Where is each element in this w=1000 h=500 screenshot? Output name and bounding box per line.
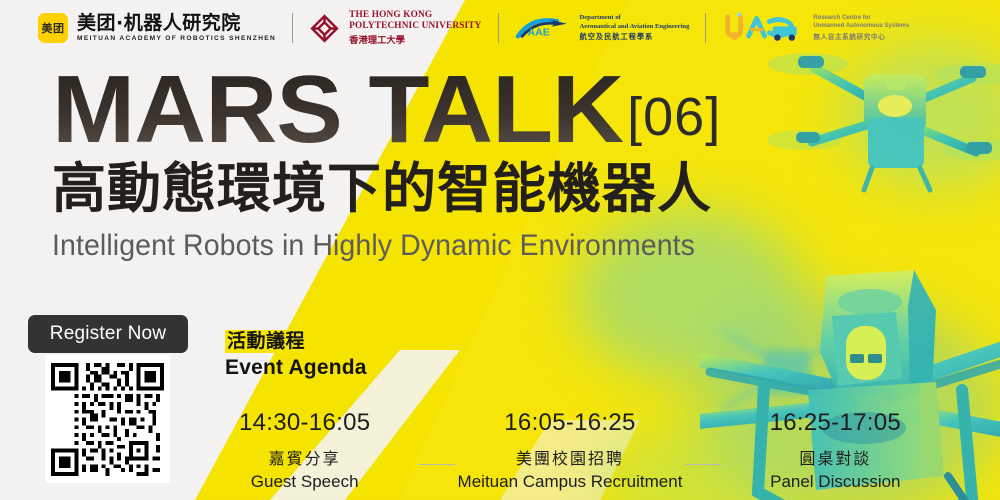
registration-qr-code-icon[interactable] bbox=[51, 363, 164, 476]
uas-emblem-icon bbox=[722, 12, 804, 44]
agenda-slot-cn: 圓桌對談 bbox=[721, 445, 950, 469]
aae-logo-cn: 航空及民航工程學系 bbox=[580, 32, 690, 42]
agenda-slot-en: Guest Speech bbox=[190, 472, 419, 492]
agenda-slot-time: 16:05-16:25 bbox=[455, 410, 684, 436]
agenda-slot-panel-discussion: 16:25-17:05 圓桌對談 Panel Discussion bbox=[721, 410, 950, 492]
agenda-heading: 活動議程 Event Agenda bbox=[225, 330, 367, 380]
logo-uas: Research Centre for Unmanned Autonomous … bbox=[722, 12, 909, 44]
agenda-slot-time: 14:30-16:05 bbox=[190, 410, 419, 436]
meituan-logo-en: MEITUAN ACADEMY OF ROBOTICS SHENZHEN bbox=[77, 35, 276, 42]
uas-logo-en2: Unmanned Autonomous Systems bbox=[813, 23, 909, 31]
logo-divider-1 bbox=[292, 13, 293, 43]
hero-block: MARS TALK [06] 高動態環境下的智能機器人 Intelligent … bbox=[52, 66, 729, 263]
registration-card[interactable]: Register Now bbox=[45, 315, 170, 483]
talk-title-cn: 高動態環境下的智能機器人 bbox=[52, 160, 729, 218]
uas-logo-en1: Research Centre for bbox=[813, 15, 909, 23]
polyu-logo-en1: THE HONG KONG bbox=[349, 10, 481, 20]
logo-aae: AAE Department of Aeronautical and Aviat… bbox=[515, 14, 690, 42]
agenda-heading-cn: 活動議程 bbox=[225, 330, 307, 353]
agenda-divider-1 bbox=[419, 464, 455, 465]
svg-text:AAE: AAE bbox=[527, 27, 549, 39]
meituan-mark-text: 美团 bbox=[42, 23, 65, 34]
logo-divider-2 bbox=[498, 13, 499, 43]
mars-talk-event-poster: 美团 美团·机器人研究院 MEITUAN ACADEMY OF ROBOTICS… bbox=[0, 0, 1000, 500]
agenda-slot-en: Meituan Campus Recruitment bbox=[455, 472, 684, 492]
logo-meituan-academy: 美团 美团·机器人研究院 MEITUAN ACADEMY OF ROBOTICS… bbox=[38, 13, 276, 43]
meituan-logo-text: 美团·机器人研究院 MEITUAN ACADEMY OF ROBOTICS SH… bbox=[77, 14, 276, 42]
uas-logo-text: Research Centre for Unmanned Autonomous … bbox=[813, 15, 909, 42]
series-title-row: MARS TALK [06] bbox=[52, 66, 729, 154]
logo-divider-3 bbox=[705, 13, 706, 43]
agenda-divider-2 bbox=[685, 464, 721, 465]
logo-polyu: THE HONG KONG POLYTECHNIC UNIVERSITY 香港理… bbox=[309, 10, 481, 46]
aae-emblem-icon: AAE bbox=[515, 15, 571, 41]
agenda-slot-time: 16:25-17:05 bbox=[721, 410, 950, 436]
register-now-button[interactable]: Register Now bbox=[28, 315, 188, 353]
polyu-logo-en2: POLYTECHNIC UNIVERSITY bbox=[349, 21, 481, 31]
polyu-emblem-icon bbox=[309, 13, 340, 44]
meituan-logo-cn: 美团·机器人研究院 bbox=[77, 14, 276, 34]
aae-logo-text: Department of Aeronautical and Aviation … bbox=[580, 14, 690, 42]
series-title: MARS TALK bbox=[52, 66, 623, 154]
qr-code-container[interactable] bbox=[45, 355, 170, 483]
agenda-slot-cn: 美團校園招聘 bbox=[455, 445, 684, 469]
talk-title-en: Intelligent Robots in Highly Dynamic Env… bbox=[52, 229, 695, 263]
partner-logo-bar: 美团 美团·机器人研究院 MEITUAN ACADEMY OF ROBOTICS… bbox=[0, 0, 1000, 56]
aae-logo-en2: Aeronautical and Aviation Engineering bbox=[580, 23, 690, 31]
polyu-logo-text: THE HONG KONG POLYTECHNIC UNIVERSITY 香港理… bbox=[349, 10, 481, 46]
aae-logo-en1: Department of bbox=[580, 14, 690, 22]
uas-logo-cn: 無人自主系統研究中心 bbox=[813, 31, 909, 41]
agenda-heading-en: Event Agenda bbox=[225, 355, 367, 380]
polyu-logo-cn: 香港理工大學 bbox=[349, 32, 481, 46]
agenda-slots: 14:30-16:05 嘉賓分享 Guest Speech 16:05-16:2… bbox=[190, 410, 950, 492]
meituan-logo-icon: 美团 bbox=[38, 13, 68, 43]
agenda-slot-cn: 嘉賓分享 bbox=[190, 445, 419, 469]
agenda-slot-en: Panel Discussion bbox=[721, 472, 950, 492]
agenda-slot-campus-recruitment: 16:05-16:25 美團校園招聘 Meituan Campus Recrui… bbox=[455, 410, 684, 492]
agenda-slot-guest-speech: 14:30-16:05 嘉賓分享 Guest Speech bbox=[190, 410, 419, 492]
issue-number: [06] bbox=[627, 90, 721, 144]
